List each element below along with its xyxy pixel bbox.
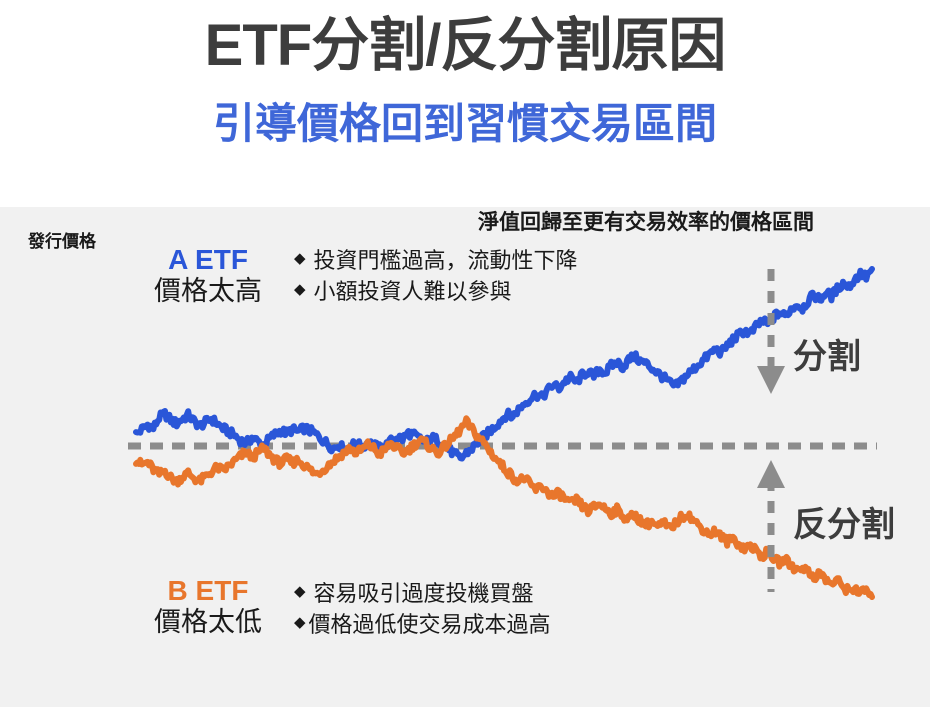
split-arrow-down [757,269,785,394]
list-item: ◆ 投資門檻過高，流動性下降 [294,245,578,276]
mid-annotation-text: 淨值回歸至更有交易效率的價格區間 [478,206,814,236]
bullet-text: 容易吸引過度投機買盤 [314,578,534,609]
b-etf-subtitle: 價格太低 [143,607,273,639]
diamond-bullet-icon: ◆ [294,578,306,607]
b-etf-bullets: ◆ 容易吸引過度投機買盤 ◆ 價格過低使交易成本過高 [294,578,551,640]
issue-price-label: 發行價格 [28,227,96,252]
a-etf-bullets: ◆ 投資門檻過高，流動性下降 ◆ 小額投資人難以參與 [294,245,578,307]
diamond-bullet-icon: ◆ [294,245,306,274]
bullet-text: 投資門檻過高，流動性下降 [314,245,578,276]
list-item: ◆ 小額投資人難以參與 [294,276,578,307]
a-etf-subtitle: 價格太高 [143,276,273,308]
header: ETF分割/反分割原因 引導價格回到習慣交易區間 [0,0,930,207]
chart-panel: A ETF 價格太高 ◆ 投資門檻過高，流動性下降 ◆ 小額投資人難以參與 B … [0,207,930,707]
group-b-etf: B ETF 價格太低 ◆ 容易吸引過度投機買盤 ◆ 價格過低使交易成本過高 [148,574,273,639]
reverse-split-label: 反分割 [793,497,895,546]
reverse-split-arrow-up [757,460,785,592]
diamond-bullet-icon: ◆ [294,609,306,638]
group-a-etf: A ETF 價格太高 ◆ 投資門檻過高，流動性下降 ◆ 小額投資人難以參與 [148,243,273,308]
page-title: ETF分割/反分割原因 [0,16,930,77]
split-label: 分割 [793,329,861,378]
bullet-text: 價格過低使交易成本過高 [309,609,551,640]
infographic-root: ETF分割/反分割原因 引導價格回到習慣交易區間 A ETF 價格太高 [0,0,930,707]
bullet-text: 小額投資人難以參與 [314,276,512,307]
page-subtitle: 引導價格回到習慣交易區間 [0,102,930,146]
diamond-bullet-icon: ◆ [294,276,306,305]
list-item: ◆ 價格過低使交易成本過高 [294,609,551,640]
list-item: ◆ 容易吸引過度投機買盤 [294,578,551,609]
a-etf-name: A ETF [148,243,268,276]
b-etf-name: B ETF [148,574,268,607]
